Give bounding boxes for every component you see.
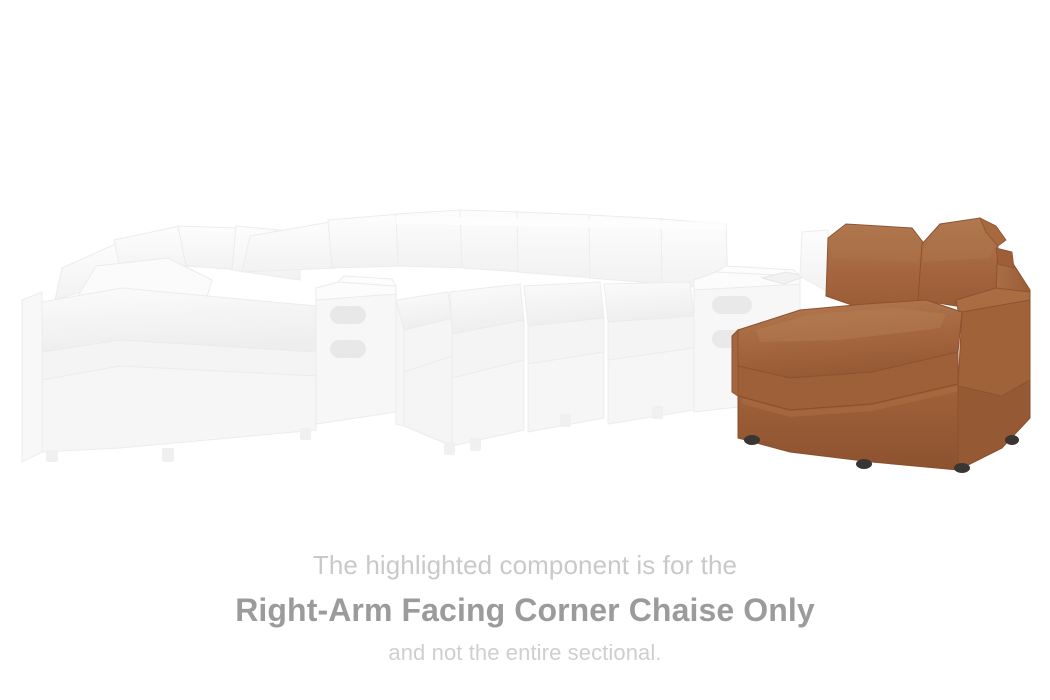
caption-line-1: The highlighted component is for the — [0, 548, 1050, 582]
product-highlight-screen: The highlighted component is for the Rig… — [0, 0, 1050, 700]
sectional-sofa-illustration — [0, 0, 1050, 520]
caption-block: The highlighted component is for the Rig… — [0, 548, 1050, 668]
ghosted-sectional-group — [22, 210, 828, 462]
component-left-console-with-cupholders — [316, 276, 396, 424]
chaise-foot-front-left — [744, 435, 760, 445]
caption-line-2-component-name: Right-Arm Facing Corner Chaise Only — [0, 588, 1050, 632]
component-armless-chair-center — [524, 282, 604, 432]
component-armless-chair-right — [604, 282, 694, 424]
sofa-svg — [0, 0, 1050, 520]
component-armless-chair-left — [242, 214, 404, 272]
chaise-foot-back-right — [1005, 435, 1019, 445]
caption-line-3: and not the entire sectional. — [0, 638, 1050, 668]
component-right-arm-facing-corner-chaise — [732, 218, 1030, 473]
chaise-foot-front-right — [954, 463, 970, 473]
chaise-foot-front-center — [856, 459, 872, 469]
